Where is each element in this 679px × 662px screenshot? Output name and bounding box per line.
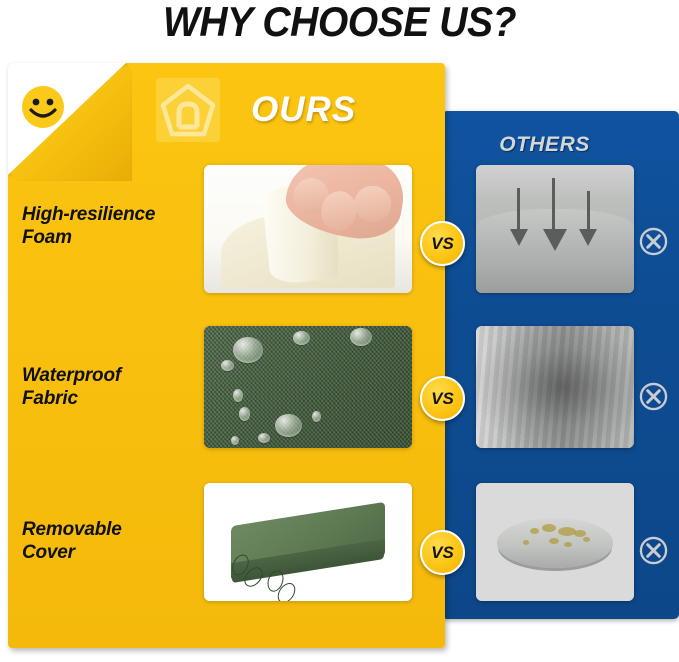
feature-label-cover: Removable Cover — [22, 518, 207, 564]
feature-label-foam-line2: Foam — [22, 227, 72, 248]
feature-label-fabric: Waterproof Fabric — [22, 364, 207, 410]
feature-label-foam: High-resilience Foam — [22, 203, 207, 249]
feature-label-foam-line1: High-resilience — [22, 204, 155, 225]
vs-badge-row2: VS — [420, 376, 465, 421]
others-image-foam — [476, 165, 634, 293]
ours-image-foam — [204, 165, 412, 293]
ours-image-cover — [204, 483, 412, 601]
green-cushion-with-ties-image — [204, 483, 412, 601]
hand-pinching-foam-image — [204, 165, 412, 293]
feature-label-fabric-line2: Fabric — [22, 388, 78, 409]
house-shield-logo-icon — [155, 77, 221, 143]
vs-badge-row1: VS — [420, 221, 465, 266]
comparison-stage: OTHERS OURS High-resilience Foam — [0, 58, 679, 662]
compressed-sagging-filling-image — [476, 165, 634, 293]
circle-x-icon-row1 — [639, 227, 668, 256]
others-heading: OTHERS — [442, 133, 647, 157]
soaked-gray-fabric-image — [476, 326, 634, 448]
others-image-cover — [476, 483, 634, 601]
green-fabric-water-beads-image — [204, 326, 412, 448]
ours-heading: OURS — [251, 90, 356, 130]
smiley-face-icon — [21, 85, 65, 129]
page-title: WHY CHOOSE US? — [24, 0, 655, 46]
circle-x-icon-row3 — [639, 536, 668, 565]
ours-image-fabric — [204, 326, 412, 448]
feature-label-cover-line1: Removable — [22, 519, 122, 540]
stained-gray-cushion-image — [476, 483, 634, 601]
feature-label-fabric-line1: Waterproof — [22, 365, 121, 386]
feature-label-cover-line2: Cover — [22, 542, 75, 563]
others-image-fabric — [476, 326, 634, 448]
circle-x-icon-row2 — [639, 382, 668, 411]
vs-badge-row3: VS — [420, 530, 465, 575]
